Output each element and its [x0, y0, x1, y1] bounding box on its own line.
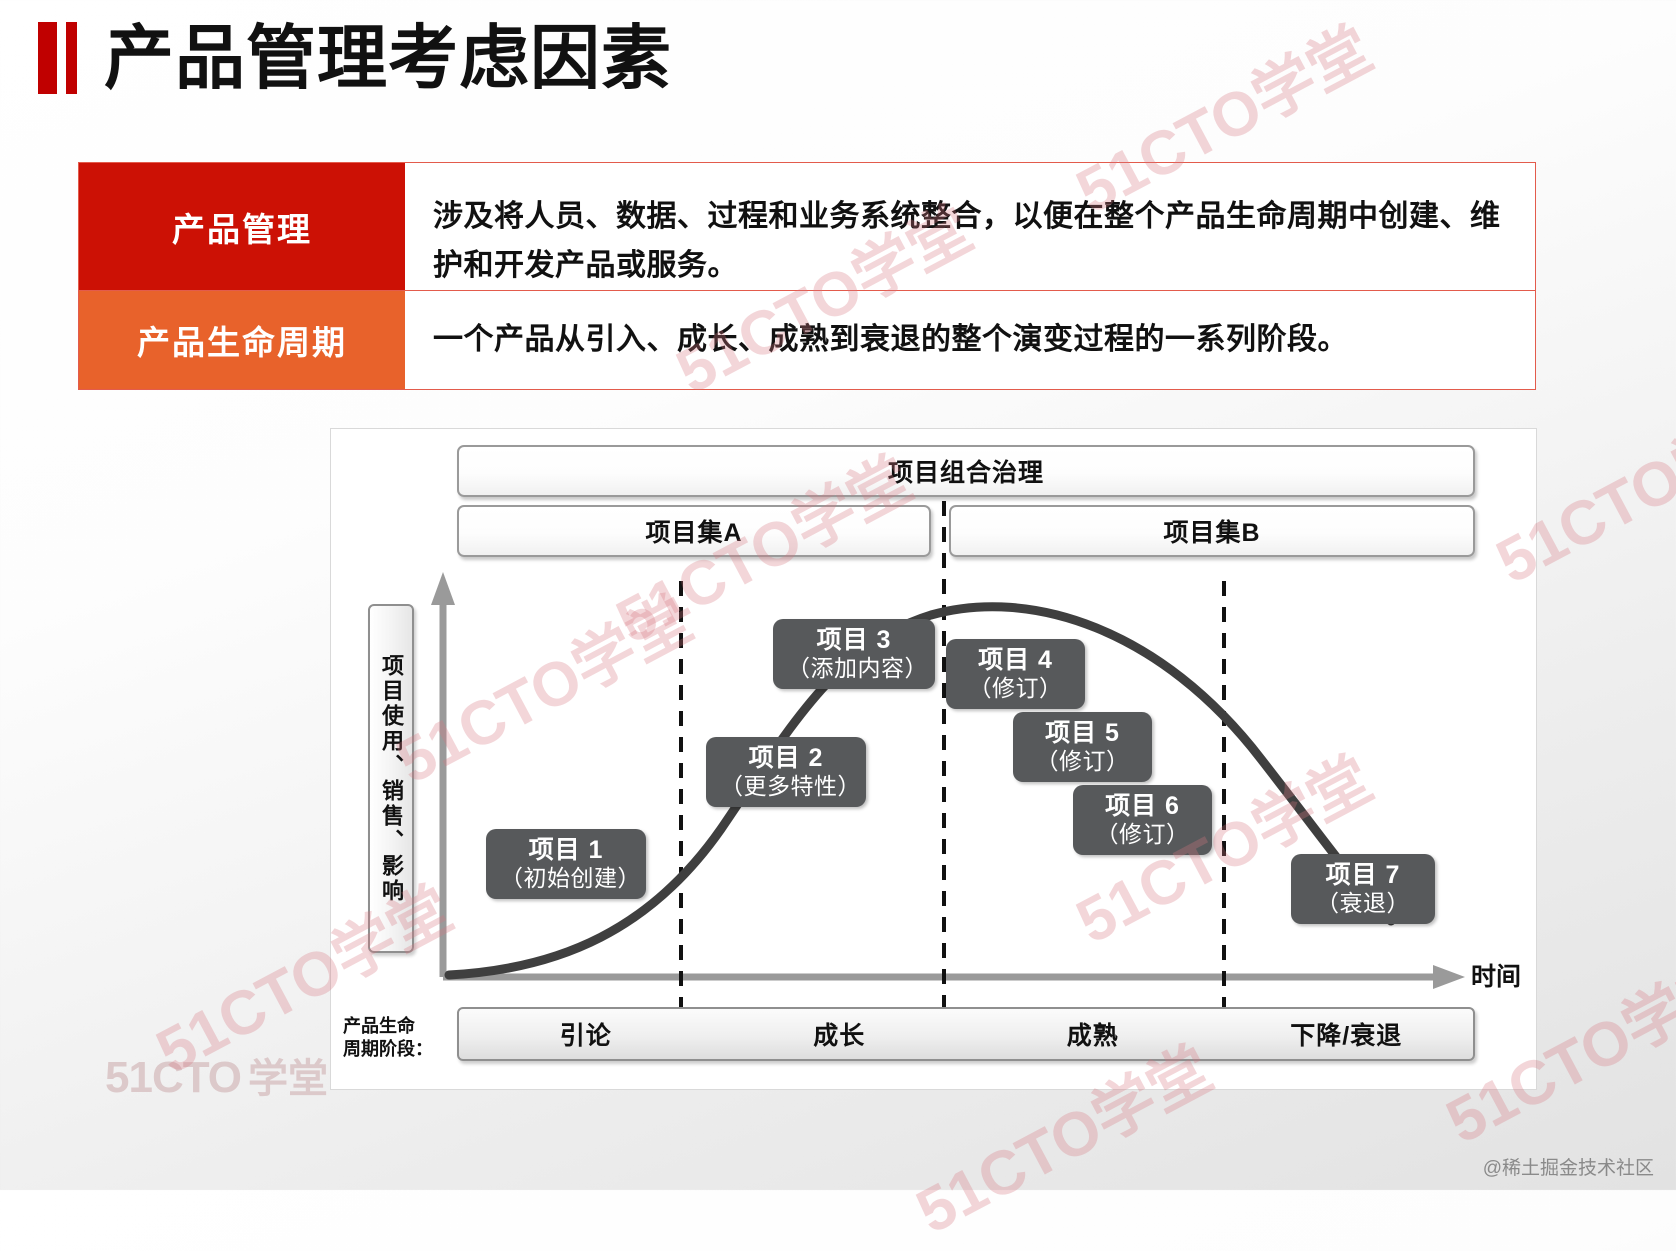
- phase-caption: 产品生命 周期阶段：: [343, 1015, 447, 1062]
- project-box-3: 项目 3 （添加内容）: [773, 619, 935, 689]
- project-subtitle: （添加内容）: [787, 655, 921, 683]
- table-row: 产品管理 涉及将人员、数据、过程和业务系统整合，以便在整个产品生命周期中创建、维…: [79, 163, 1535, 291]
- project-title: 项目 4: [978, 646, 1053, 675]
- project-box-4: 项目 4 （修订）: [946, 639, 1085, 709]
- project-subtitle: （修订）: [1096, 821, 1190, 849]
- phase-caption-line-1: 产品生命: [343, 1015, 447, 1038]
- definition-table: 产品管理 涉及将人员、数据、过程和业务系统整合，以便在整个产品生命周期中创建、维…: [78, 162, 1536, 390]
- lifecycle-phase-bar: 引论 成长 成熟 下降/衰退: [457, 1007, 1475, 1061]
- project-box-2: 项目 2 （更多特性）: [706, 737, 866, 807]
- term-cell-product-lifecycle: 产品生命周期: [79, 291, 405, 389]
- term-cell-product-management: 产品管理: [79, 163, 405, 290]
- page-title: 产品管理考虑因素: [104, 23, 672, 93]
- lifecycle-curve-svg: [331, 429, 1536, 1089]
- project-title: 项目 3: [817, 626, 892, 655]
- project-subtitle: （更多特性）: [720, 773, 852, 801]
- project-title: 项目 2: [749, 744, 824, 773]
- project-subtitle: （修订）: [969, 675, 1063, 703]
- project-box-6: 项目 6 （修订）: [1073, 785, 1212, 855]
- x-axis-label: 时间: [1471, 957, 1521, 993]
- logo-primary-text: 51CTO: [105, 1053, 241, 1103]
- project-subtitle: （初始创建）: [500, 865, 632, 893]
- title-marker-bar-1: [38, 22, 57, 94]
- phase-maturity: 成熟: [966, 1009, 1220, 1059]
- page-header: 产品管理考虑因素: [38, 22, 672, 94]
- credit-text: @稀土掘金技术社区: [1483, 1153, 1654, 1180]
- project-box-1: 项目 1 （初始创建）: [486, 829, 646, 899]
- logo-secondary-text: 学堂: [248, 1046, 328, 1104]
- project-box-7: 项目 7 （衰退）: [1291, 854, 1435, 924]
- definition-cell-product-lifecycle: 一个产品从引入、成长、成熟到衰退的整个演变过程的一系列阶段。: [405, 291, 1535, 389]
- definition-cell-product-management: 涉及将人员、数据、过程和业务系统整合，以便在整个产品生命周期中创建、维护和开发产…: [405, 163, 1535, 290]
- project-title: 项目 6: [1105, 792, 1180, 821]
- table-row: 产品生命周期 一个产品从引入、成长、成熟到衰退的整个演变过程的一系列阶段。: [79, 291, 1535, 389]
- product-lifecycle-diagram: 项目组合治理 项目集A 项目集B 项目使用、销售、影响 项目 1 （初始创建） …: [330, 428, 1537, 1090]
- site-logo: 51CTO 学堂: [105, 1046, 328, 1104]
- project-subtitle: （修订）: [1036, 748, 1130, 776]
- project-subtitle: （衰退）: [1316, 890, 1410, 918]
- project-title: 项目 7: [1326, 861, 1401, 890]
- phase-caption-line-2: 周期阶段：: [343, 1038, 447, 1061]
- phase-decline: 下降/衰退: [1220, 1009, 1474, 1059]
- project-box-5: 项目 5 （修订）: [1013, 712, 1152, 782]
- phase-growth: 成长: [713, 1009, 967, 1059]
- project-title: 项目 5: [1045, 719, 1120, 748]
- title-marker-bar-2: [66, 22, 77, 94]
- phase-introduction: 引论: [459, 1009, 713, 1059]
- project-title: 项目 1: [529, 836, 604, 865]
